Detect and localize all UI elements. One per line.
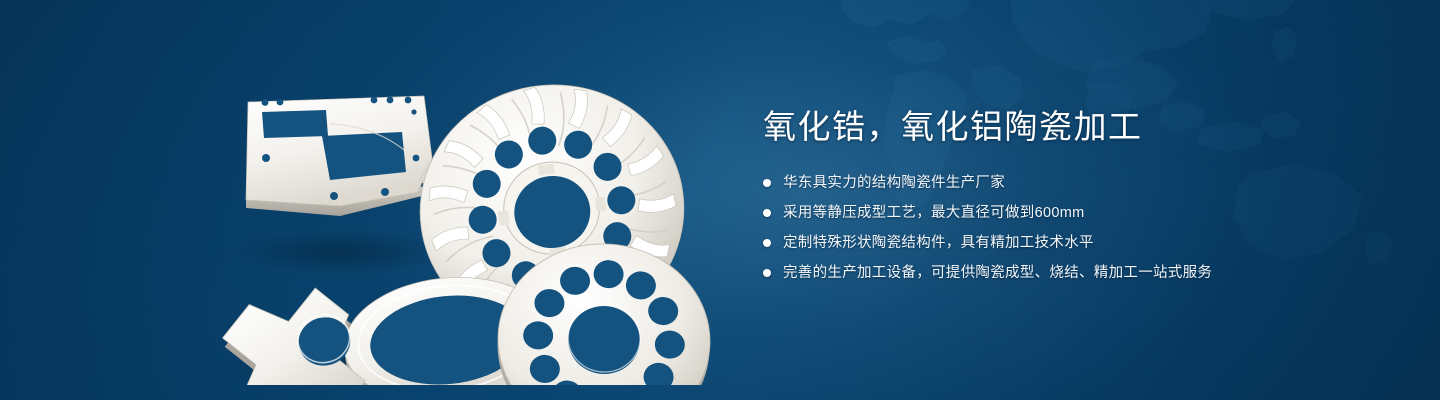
bullet-dot-icon <box>763 269 771 277</box>
feature-list: 华东具实力的结构陶瓷件生产厂家 采用等静压成型工艺，最大直径可做到600mm 定… <box>763 172 1363 284</box>
list-item: 华东具实力的结构陶瓷件生产厂家 <box>763 172 1363 194</box>
feature-text: 采用等静压成型工艺，最大直径可做到600mm <box>783 206 1084 221</box>
list-item: 定制特殊形状陶瓷结构件，具有精加工技术水平 <box>763 232 1363 254</box>
banner-copy: 氧化锆，氧化铝陶瓷加工 华东具实力的结构陶瓷件生产厂家 采用等静压成型工艺，最大… <box>763 108 1363 292</box>
product-image-group <box>180 40 740 385</box>
hero-banner: 氧化锆，氧化铝陶瓷加工 华东具实力的结构陶瓷件生产厂家 采用等静压成型工艺，最大… <box>0 0 1440 400</box>
bullet-dot-icon <box>763 239 771 247</box>
feature-text: 定制特殊形状陶瓷结构件，具有精加工技术水平 <box>783 236 1094 251</box>
feature-text: 华东具实力的结构陶瓷件生产厂家 <box>783 176 1005 191</box>
bullet-dot-icon <box>763 179 771 187</box>
list-item: 采用等静压成型工艺，最大直径可做到600mm <box>763 202 1363 224</box>
bullet-dot-icon <box>763 209 771 217</box>
page-title: 氧化锆，氧化铝陶瓷加工 <box>763 108 1363 147</box>
feature-text: 完善的生产加工设备，可提供陶瓷成型、烧结、精加工一站式服务 <box>783 266 1212 281</box>
list-item: 完善的生产加工设备，可提供陶瓷成型、烧结、精加工一站式服务 <box>763 262 1363 284</box>
ceramic-machined-plate <box>246 96 432 216</box>
